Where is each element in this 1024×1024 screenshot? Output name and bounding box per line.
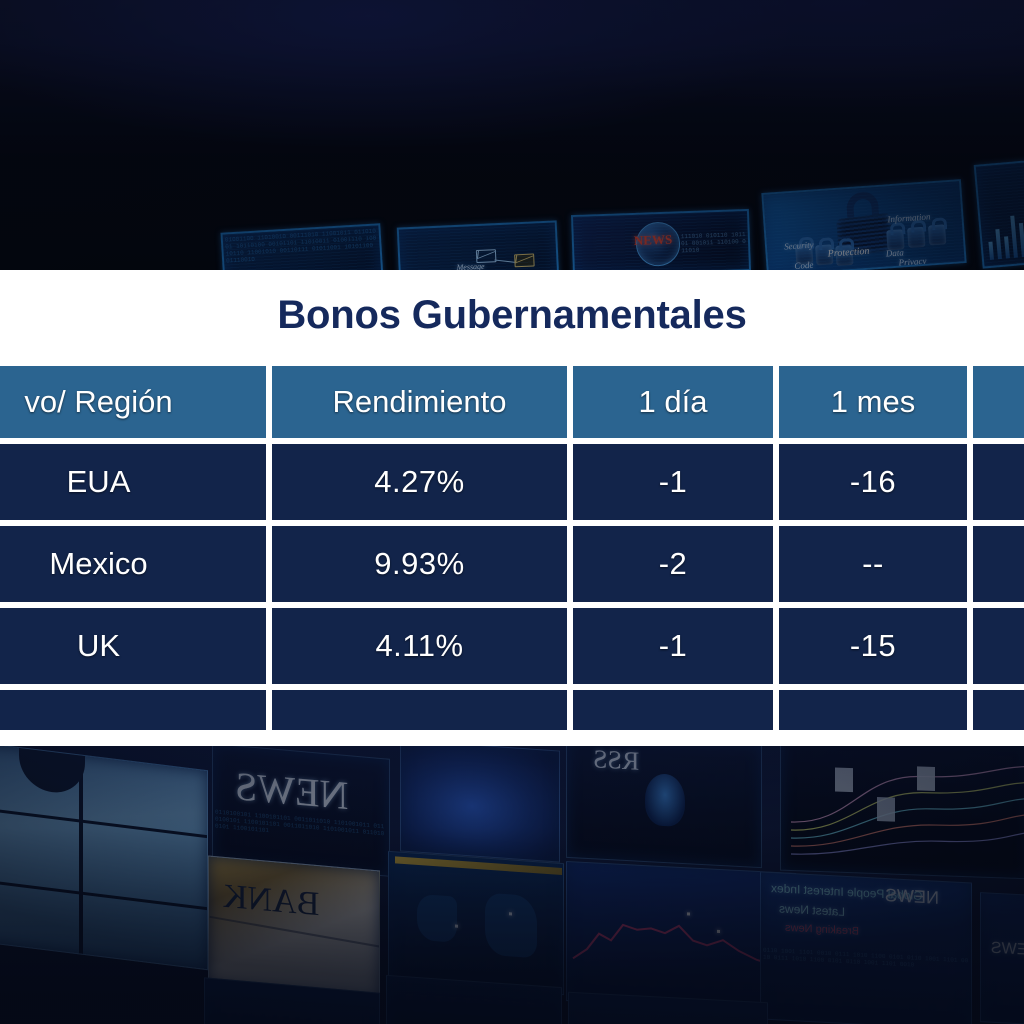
cell-year1: + (973, 444, 1024, 520)
column-header-day1[interactable]: 1 día (573, 366, 773, 438)
bonds-table: vo/ Región Rendimiento 1 día 1 mes 1 EUA… (0, 360, 1024, 736)
column-header-year1[interactable]: 1 (973, 366, 1024, 438)
cell-month1-partial (779, 690, 967, 730)
news-globe-screen: NEWS 111010 010110 101101 001011 110100 … (571, 209, 751, 272)
data-label: Data (885, 247, 904, 258)
table-row: UK 4.11% -1 -15 -5 (0, 608, 1024, 684)
table-header: vo/ Región Rendimiento 1 día 1 mes 1 (0, 366, 1024, 438)
binary-screen: 01001100 11010010 00111010 11001011 0110… (220, 223, 383, 272)
cell-asset: UK (0, 608, 266, 684)
message-screen: Message (397, 220, 559, 272)
screenshot-root: 01001100 11010010 00111010 11001011 0110… (0, 0, 1024, 1024)
cell-yield: 4.27% (272, 444, 567, 520)
abstract-blue-tile (400, 745, 560, 863)
cell-year1: +1 (973, 526, 1024, 602)
news-right-tile-label: NEWS (991, 940, 1024, 961)
breaking-news-label: Breaking News (785, 922, 859, 938)
cell-day1: -1 (573, 608, 773, 684)
privacy-label: Privacy (898, 256, 927, 268)
cell-day1: -2 (573, 526, 773, 602)
bar-chart-graphic (976, 158, 1024, 267)
cell-year1-partial (973, 690, 1024, 730)
bank-tile-label: BANK (223, 878, 319, 924)
column-header-month1[interactable]: 1 mes (779, 366, 967, 438)
title-band: Bonos Gubernamentales (0, 270, 1024, 360)
headline-binary: 0110 1001 1101 0010 0111 1010 1100 0101 … (761, 944, 971, 1024)
table-row: Mexico 9.93% -2 -- +1 (0, 526, 1024, 602)
small-padlock-icon-5 (907, 227, 925, 248)
bonds-table-container: vo/ Región Rendimiento 1 día 1 mes 1 EUA… (0, 360, 1024, 746)
small-padlock-icon-3 (835, 245, 853, 266)
news-binary-text: 111010 010110 101101 001011 110100 01101… (679, 229, 750, 271)
cell-day1-partial (573, 690, 773, 730)
chart-screen (974, 155, 1024, 268)
news-tile: NEWS 0110100101 1100101101 0011011010 11… (212, 745, 390, 877)
message-wire (494, 260, 516, 264)
column-header-yield[interactable]: Rendimiento (272, 366, 567, 438)
news-right-label: NEWS (885, 885, 939, 909)
cell-yield: 4.11% (272, 608, 567, 684)
cell-day1: -1 (573, 444, 773, 520)
cell-year1: -5 (973, 608, 1024, 684)
latest-news-label: Latest News (779, 901, 845, 918)
cell-month1: -15 (779, 608, 967, 684)
padlock-icon (835, 189, 893, 257)
table-body: EUA 4.27% -1 -16 + Mexico 9.93% -2 -- +1… (0, 444, 1024, 730)
globe-icon (635, 221, 681, 267)
table-row: EUA 4.27% -1 -16 + (0, 444, 1024, 520)
cell-asset-partial (0, 690, 266, 730)
small-padlock-icon-4 (886, 229, 904, 250)
top-monitor-strip: 01001100 11010010 00111010 11001011 0110… (0, 0, 1024, 272)
page-title: Bonos Gubernamentales (277, 293, 746, 338)
bank-tile: BANK (208, 855, 380, 998)
sky-window-tile (0, 745, 208, 970)
news-globe-label: NEWS (634, 232, 673, 249)
cell-asset: Mexico (0, 526, 266, 602)
information-label: Information (887, 211, 931, 224)
cell-asset: EUA (0, 444, 266, 520)
news-right-tile: NEWS (980, 892, 1024, 1024)
small-padlock-icon-6 (928, 224, 946, 245)
envelope-icon (476, 249, 497, 263)
binary-text: 01001100 11010010 00111010 11001011 0110… (223, 225, 382, 272)
protection-label: Protection (827, 246, 870, 260)
rss-tile-label: RSS (593, 745, 639, 777)
column-header-asset[interactable]: vo/ Región (0, 366, 266, 438)
envelope-filled-icon (514, 253, 535, 267)
rss-fingerprint-graphic (645, 773, 685, 827)
cell-month1: -- (779, 526, 967, 602)
table-row-partial (0, 690, 1024, 730)
cell-yield-partial (272, 690, 567, 730)
rss-tile: RSS (566, 745, 762, 868)
network-flow-tile (780, 745, 1024, 879)
security-screen: Security Code Protection Information Dat… (761, 179, 966, 272)
bottom-monitor-wall: NEWS 0110100101 1100101101 0011011010 11… (0, 745, 1024, 1024)
map-tile (388, 851, 564, 995)
flow-lines-graphic (781, 745, 1024, 879)
headline-tile: Global People Interest Index Latest News… (760, 871, 972, 1024)
small-padlock-icon-1 (795, 244, 813, 265)
table-header-row: vo/ Región Rendimiento 1 día 1 mes 1 (0, 366, 1024, 438)
small-padlock-icon-2 (815, 244, 833, 265)
security-label: Security (784, 240, 814, 252)
cell-month1: -16 (779, 444, 967, 520)
cell-yield: 9.93% (272, 526, 567, 602)
